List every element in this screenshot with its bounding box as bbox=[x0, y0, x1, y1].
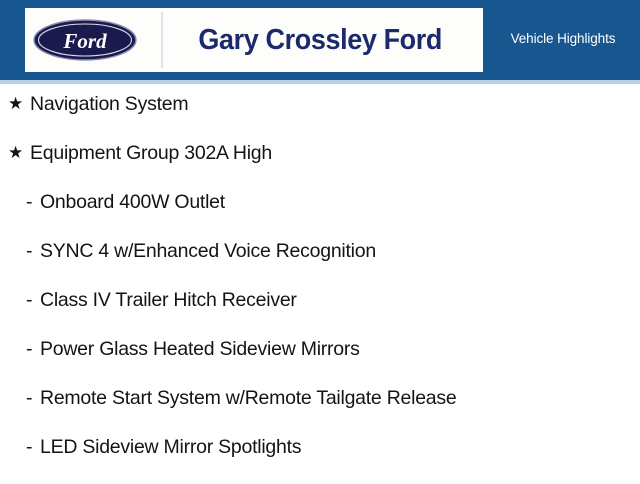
dash-bullet-icon: - bbox=[26, 239, 40, 263]
list-item-label: Power Glass Heated Sideview Mirrors bbox=[40, 337, 360, 361]
star-bullet-icon: ★ bbox=[8, 141, 30, 164]
list-item-label: Class IV Trailer Hitch Receiver bbox=[40, 288, 297, 312]
list-item-label: Equipment Group 302A High bbox=[30, 141, 272, 165]
list-item: - Remote Start System w/Remote Tailgate … bbox=[0, 386, 640, 435]
dealer-logo-card: Ford Gary Crossley Ford bbox=[25, 8, 483, 72]
ford-logo: Ford bbox=[25, 19, 145, 61]
list-item-label: SYNC 4 w/Enhanced Voice Recognition bbox=[40, 239, 376, 263]
list-item-label: LED Sideview Mirror Spotlights bbox=[40, 435, 301, 459]
list-item: - Class IV Trailer Hitch Receiver bbox=[0, 288, 640, 337]
list-item: - Onboard 400W Outlet bbox=[0, 190, 640, 239]
dash-bullet-icon: - bbox=[26, 190, 40, 214]
list-item-label: Onboard 400W Outlet bbox=[40, 190, 225, 214]
dash-bullet-icon: - bbox=[26, 337, 40, 361]
header-divider bbox=[161, 12, 163, 68]
ford-oval-icon: Ford bbox=[33, 19, 137, 61]
header-bar-underline bbox=[0, 80, 640, 84]
list-item: - SYNC 4 w/Enhanced Voice Recognition bbox=[0, 239, 640, 288]
dealer-name: Gary Crossley Ford bbox=[174, 24, 472, 57]
list-item: ★ Equipment Group 302A High bbox=[0, 141, 640, 190]
dash-bullet-icon: - bbox=[26, 288, 40, 312]
star-bullet-icon: ★ bbox=[8, 92, 30, 115]
list-item: - LED Sideview Mirror Spotlights bbox=[0, 435, 640, 484]
section-title: Vehicle Highlights bbox=[490, 31, 636, 46]
list-item-label: Remote Start System w/Remote Tailgate Re… bbox=[40, 386, 457, 410]
features-list: ★ Navigation System ★ Equipment Group 30… bbox=[0, 92, 640, 484]
svg-text:Ford: Ford bbox=[62, 29, 107, 53]
vehicle-highlights-page: Ford Gary Crossley Ford Vehicle Highligh… bbox=[0, 0, 640, 480]
list-item: - Power Glass Heated Sideview Mirrors bbox=[0, 337, 640, 386]
list-item-label: Navigation System bbox=[30, 92, 188, 116]
dash-bullet-icon: - bbox=[26, 435, 40, 459]
dash-bullet-icon: - bbox=[26, 386, 40, 410]
list-item: ★ Navigation System bbox=[0, 92, 640, 141]
